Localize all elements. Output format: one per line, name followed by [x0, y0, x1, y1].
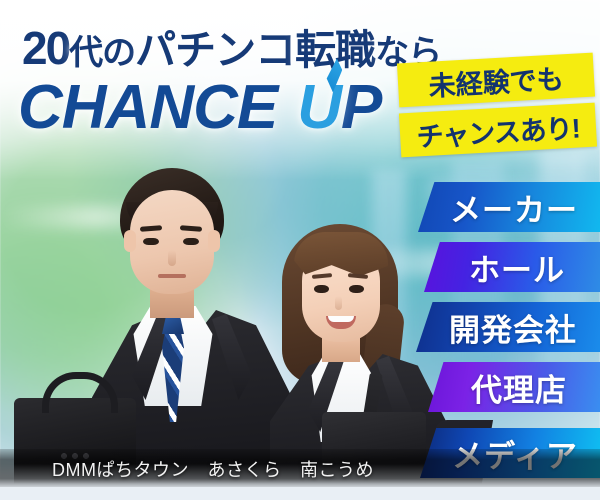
logo-word-chance: CHANCE: [18, 72, 277, 143]
male-eye-right: [183, 238, 199, 245]
headline-text: 20代のパチンコ転職なら: [22, 16, 441, 76]
badge-label: 未経験でも: [428, 57, 565, 103]
headline-mid: 代の: [69, 34, 135, 72]
male-eye-left: [143, 238, 159, 245]
headline-number: 20: [22, 22, 69, 74]
category-banner-maker[interactable]: メーカー: [418, 182, 600, 232]
logo-word-up: UP: [297, 72, 381, 143]
category-label: 代理店: [461, 365, 567, 410]
category-label: メーカー: [440, 185, 578, 230]
category-label: ホール: [459, 245, 565, 290]
category-banner-development-company[interactable]: 開発会社: [416, 302, 600, 352]
male-tie-knot: [162, 318, 184, 334]
caption-credits: DMMぱちタウン あさくら 南こうめ: [52, 456, 374, 482]
male-ear-right: [208, 230, 220, 252]
category-banner-hall[interactable]: ホール: [424, 242, 600, 292]
female-eye-left: [314, 285, 329, 293]
advertisement-banner[interactable]: 20代のパチンコ転職なら CHANCE UP 未経験でも チャンスあり! メーカ…: [0, 0, 600, 500]
category-label: 開発会社: [439, 305, 577, 350]
chance-up-logo: CHANCE UP: [18, 72, 381, 143]
male-ear-left: [124, 230, 136, 252]
category-banner-agency[interactable]: 代理店: [428, 362, 600, 412]
female-eye-right: [349, 285, 364, 293]
headline-kana: パチンコ: [135, 27, 295, 73]
male-mouth: [158, 274, 186, 278]
logo-letter-p: P: [341, 73, 381, 142]
male-nose: [168, 250, 176, 266]
female-nose: [335, 296, 342, 310]
badge-label: チャンスあり!: [415, 106, 580, 154]
